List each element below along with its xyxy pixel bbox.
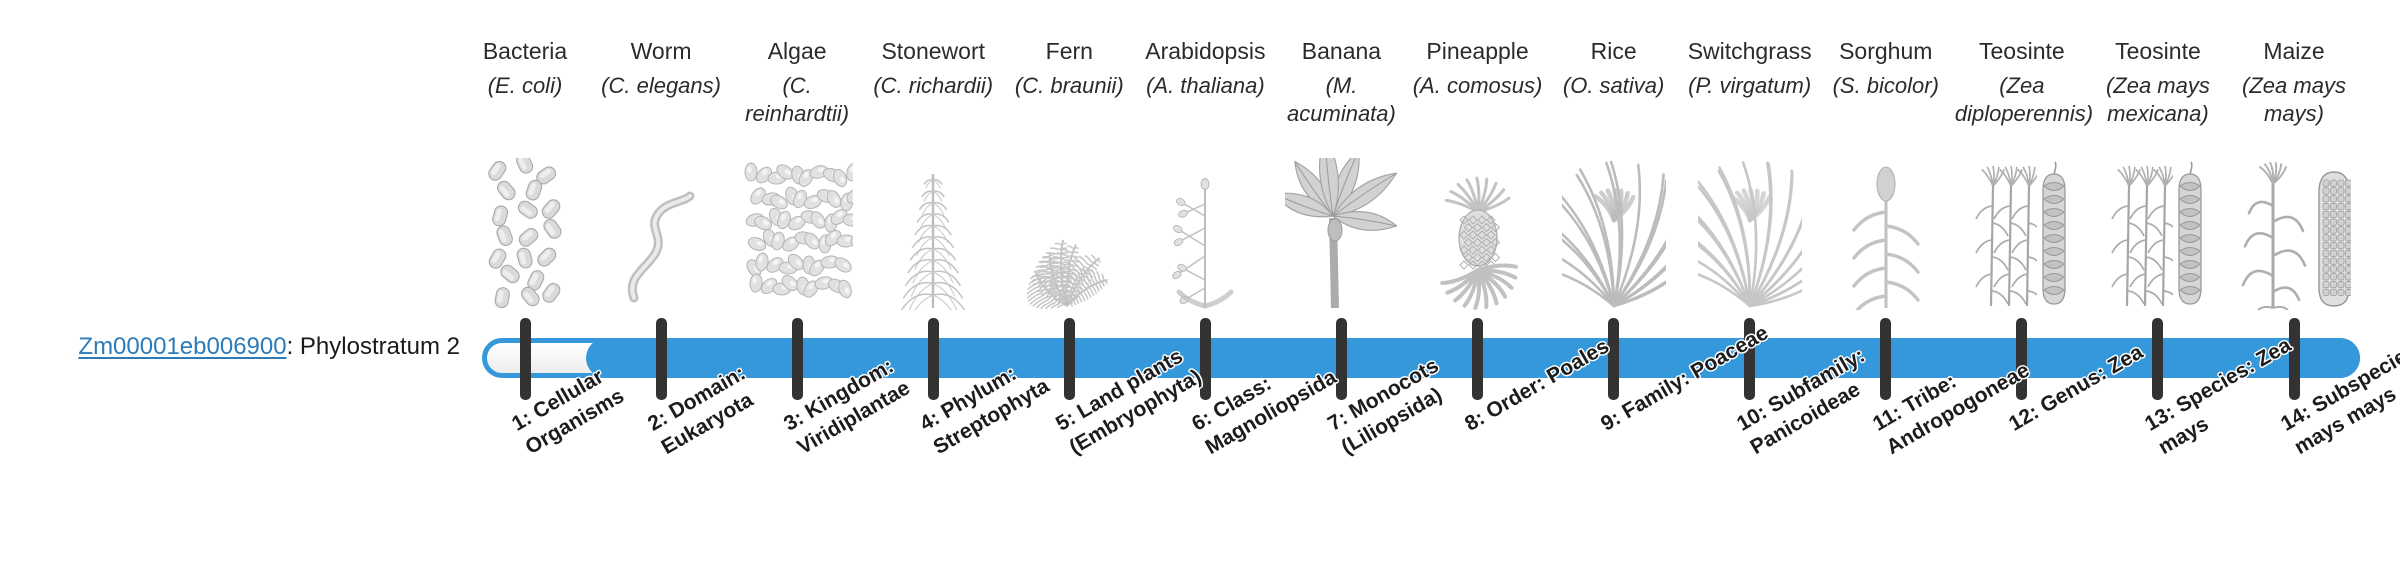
- organism-name-block: Arabidopsis(A. thaliana): [1138, 36, 1272, 100]
- stratum-tick-3[interactable]: [792, 318, 803, 400]
- bacteria-icon: [458, 162, 592, 310]
- stratum-tick-6[interactable]: [1200, 318, 1211, 400]
- stratum-tick-10[interactable]: [1744, 318, 1755, 400]
- organism-scientific-name: (S. bicolor): [1819, 72, 1953, 100]
- stratum-tick-13[interactable]: [2152, 318, 2163, 400]
- stratum-tick-14[interactable]: [2289, 318, 2300, 400]
- organism-scientific-name: (C. braunii): [1002, 72, 1136, 100]
- organism-scientific-name: (A. comosus): [1411, 72, 1545, 100]
- organism-scientific-name: (O. sativa): [1547, 72, 1681, 100]
- organism-scientific-name: (M. acuminata): [1274, 72, 1408, 128]
- organism-column-9: Rice(O. sativa): [1547, 0, 1681, 580]
- organism-column-10: Switchgrass(P. virgatum): [1683, 0, 1817, 580]
- organism-name-block: Pineapple(A. comosus): [1411, 36, 1545, 100]
- stratum-tick-7[interactable]: [1336, 318, 1347, 400]
- organism-column-2: Worm(C. elegans): [594, 0, 728, 580]
- organism-column-1: Bacteria(E. coli): [458, 0, 592, 580]
- organism-name-block: Fern(C. braunii): [1002, 36, 1136, 100]
- stratum-tick-4[interactable]: [928, 318, 939, 400]
- organism-scientific-name: (Zea mays mays): [2227, 72, 2361, 128]
- stratum-tick-9[interactable]: [1608, 318, 1619, 400]
- organism-scientific-name: (Zea diploperennis): [1955, 72, 2089, 128]
- stratum-tick-1[interactable]: [520, 318, 531, 400]
- fern-icon: [1002, 162, 1136, 310]
- organism-column-6: Arabidopsis(A. thaliana): [1138, 0, 1272, 580]
- arabidopsis-icon: [1138, 162, 1272, 310]
- organism-scientific-name: (C. elegans): [594, 72, 728, 100]
- organism-column-13: Teosinte(Zea mays mexicana): [2091, 0, 2225, 580]
- phylostratum-figure: Zm00001eb006900: Phylostratum 2 Bacteria…: [0, 0, 2400, 580]
- organism-column-5: Fern(C. braunii): [1002, 0, 1136, 580]
- organism-common-name: Switchgrass: [1683, 36, 1817, 66]
- rice-icon: [1547, 162, 1681, 310]
- organism-name-block: Sorghum(S. bicolor): [1819, 36, 1953, 100]
- organism-scientific-name: (C. reinhardtii): [730, 72, 864, 128]
- organism-name-block: Teosinte(Zea mays mexicana): [2091, 36, 2225, 128]
- organism-columns: Bacteria(E. coli)Worm(C. elegans)Algae(C…: [482, 0, 2360, 580]
- worm-icon: [594, 162, 728, 310]
- organism-common-name: Teosinte: [1955, 36, 2089, 66]
- organism-column-12: Teosinte(Zea diploperennis): [1955, 0, 2089, 580]
- organism-common-name: Teosinte: [2091, 36, 2225, 66]
- organism-common-name: Pineapple: [1411, 36, 1545, 66]
- organism-common-name: Worm: [594, 36, 728, 66]
- organism-common-name: Sorghum: [1819, 36, 1953, 66]
- organism-scientific-name: (P. virgatum): [1683, 72, 1817, 100]
- banana-icon: [1274, 162, 1408, 310]
- organism-common-name: Banana: [1274, 36, 1408, 66]
- maize-icon: [2227, 162, 2361, 310]
- stratum-tick-12[interactable]: [2016, 318, 2027, 400]
- pineapple-icon: [1411, 162, 1545, 310]
- organism-name-block: Maize(Zea mays mays): [2227, 36, 2361, 128]
- organism-column-14: Maize(Zea mays mays): [2227, 0, 2361, 580]
- organism-common-name: Fern: [1002, 36, 1136, 66]
- gene-label-separator: :: [287, 333, 300, 360]
- organism-column-11: Sorghum(S. bicolor): [1819, 0, 1953, 580]
- organism-name-block: Stonewort(C. richardii): [866, 36, 1000, 100]
- switchgrass-icon: [1683, 162, 1817, 310]
- stratum-tick-2[interactable]: [656, 318, 667, 400]
- sorghum-icon: [1819, 162, 1953, 310]
- organism-scientific-name: (Zea mays mexicana): [2091, 72, 2225, 128]
- organism-column-7: Banana(M. acuminata): [1274, 0, 1408, 580]
- stratum-tick-11[interactable]: [1880, 318, 1891, 400]
- teosinte-mexicana-icon: [2091, 162, 2225, 310]
- stratum-tick-5[interactable]: [1064, 318, 1075, 400]
- organism-common-name: Maize: [2227, 36, 2361, 66]
- organism-common-name: Rice: [1547, 36, 1681, 66]
- organism-common-name: Arabidopsis: [1138, 36, 1272, 66]
- organism-name-block: Switchgrass(P. virgatum): [1683, 36, 1817, 100]
- organism-common-name: Stonewort: [866, 36, 1000, 66]
- gene-phylostratum-label: Zm00001eb006900: Phylostratum 2: [40, 333, 460, 361]
- algae-icon: [730, 162, 864, 310]
- organism-name-block: Banana(M. acuminata): [1274, 36, 1408, 128]
- organism-name-block: Teosinte(Zea diploperennis): [1955, 36, 2089, 128]
- organism-common-name: Algae: [730, 36, 864, 66]
- organism-name-block: Algae(C. reinhardtii): [730, 36, 864, 128]
- organism-column-4: Stonewort(C. richardii): [866, 0, 1000, 580]
- organism-scientific-name: (A. thaliana): [1138, 72, 1272, 100]
- organism-name-block: Worm(C. elegans): [594, 36, 728, 100]
- stonewort-icon: [866, 162, 1000, 310]
- organism-scientific-name: (C. richardii): [866, 72, 1000, 100]
- teosinte-diploperennis-icon: [1955, 162, 2089, 310]
- organism-name-block: Rice(O. sativa): [1547, 36, 1681, 100]
- organism-common-name: Bacteria: [458, 36, 592, 66]
- organism-column-3: Algae(C. reinhardtii): [730, 0, 864, 580]
- organism-column-8: Pineapple(A. comosus): [1411, 0, 1545, 580]
- stratum-tick-8[interactable]: [1472, 318, 1483, 400]
- phylostratum-value: Phylostratum 2: [300, 333, 460, 360]
- organism-name-block: Bacteria(E. coli): [458, 36, 592, 100]
- organism-scientific-name: (E. coli): [458, 72, 592, 100]
- gene-id-link[interactable]: Zm00001eb006900: [78, 333, 286, 360]
